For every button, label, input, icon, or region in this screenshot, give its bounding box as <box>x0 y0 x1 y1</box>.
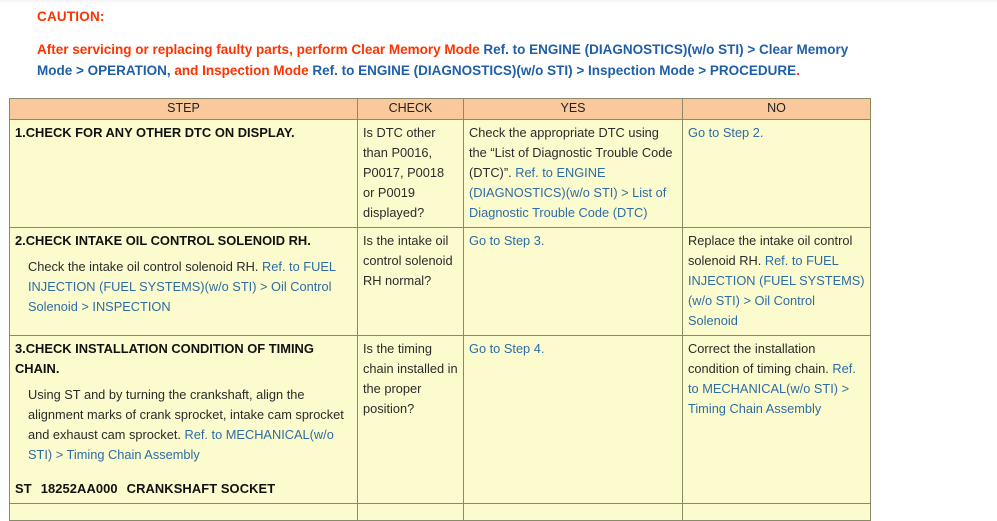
reference-link[interactable]: Go to Step 2. <box>688 125 763 140</box>
text-run: Correct the installation condition of ti… <box>688 341 832 376</box>
special-tool-line: ST18252AA000CRANKSHAFT SOCKET <box>15 479 353 499</box>
cell-check: Is the intake oil control solenoid RH no… <box>358 228 464 336</box>
cell-no: Go to Step 2. <box>683 120 871 228</box>
column-header-step: STEP <box>10 99 358 120</box>
diagnostic-procedure-table: STEP CHECK YES NO 1.CHECK FOR ANY OTHER … <box>9 98 871 521</box>
table-row-partial <box>10 504 871 521</box>
step-title: 2.CHECK INTAKE OIL CONTROL SOLENOID RH. <box>15 231 353 251</box>
table-row: 1.CHECK FOR ANY OTHER DTC ON DISPLAY.Is … <box>10 120 871 228</box>
special-tool-label: ST <box>15 481 32 496</box>
step-description: Using ST and by turning the crankshaft, … <box>15 385 353 465</box>
column-header-no: NO <box>683 99 871 120</box>
cell-yes: Check the appropriate DTC using the “Lis… <box>464 120 683 228</box>
cell-partial <box>464 504 683 521</box>
reference-link[interactable]: Go to Step 3. <box>469 233 544 248</box>
table-row: 2.CHECK INTAKE OIL CONTROL SOLENOID RH.C… <box>10 228 871 336</box>
reference-link[interactable]: Ref. to ENGINE (DIAGNOSTICS)(w/o STI) > … <box>312 63 796 78</box>
diagnostic-table-wrapper: STEP CHECK YES NO 1.CHECK FOR ANY OTHER … <box>0 98 997 521</box>
caution-body: After servicing or replacing faulty part… <box>37 40 862 81</box>
table-body: 1.CHECK FOR ANY OTHER DTC ON DISPLAY.Is … <box>10 120 871 521</box>
cell-yes: Go to Step 3. <box>464 228 683 336</box>
cell-partial <box>683 504 871 521</box>
column-header-check: CHECK <box>358 99 464 120</box>
cell-partial <box>358 504 464 521</box>
reference-link[interactable]: Go to Step 4. <box>469 341 544 356</box>
caution-title: CAUTION: <box>37 8 967 26</box>
cell-step: 1.CHECK FOR ANY OTHER DTC ON DISPLAY. <box>10 120 358 228</box>
text-run: Is DTC other than P0016, P0017, P0018 or… <box>363 125 444 220</box>
cell-check: Is DTC other than P0016, P0017, P0018 or… <box>358 120 464 228</box>
step-title: 3.CHECK INSTALLATION CONDITION OF TIMING… <box>15 339 353 379</box>
cell-step: 2.CHECK INTAKE OIL CONTROL SOLENOID RH.C… <box>10 228 358 336</box>
special-tool-part-number: 18252AA000 <box>41 481 118 496</box>
cell-no: Replace the intake oil control solenoid … <box>683 228 871 336</box>
cell-yes: Go to Step 4. <box>464 336 683 504</box>
special-tool-part-name: CRANKSHAFT SOCKET <box>127 481 276 496</box>
cell-check: Is the timing chain installed in the pro… <box>358 336 464 504</box>
cell-step: 3.CHECK INSTALLATION CONDITION OF TIMING… <box>10 336 358 504</box>
step-title: 1.CHECK FOR ANY OTHER DTC ON DISPLAY. <box>15 123 353 143</box>
text-run: After servicing or replacing faulty part… <box>37 42 483 57</box>
document-page: CAUTION: After servicing or replacing fa… <box>0 0 997 521</box>
cell-no: Correct the installation condition of ti… <box>683 336 871 504</box>
step-description: Check the intake oil control solenoid RH… <box>15 257 353 317</box>
table-header-row: STEP CHECK YES NO <box>10 99 871 120</box>
text-run: and Inspection Mode <box>171 63 313 78</box>
caution-block: CAUTION: After servicing or replacing fa… <box>0 0 997 81</box>
table-row: 3.CHECK INSTALLATION CONDITION OF TIMING… <box>10 336 871 504</box>
cell-partial <box>10 504 358 521</box>
text-run: . <box>796 63 800 78</box>
text-run: Is the timing chain installed in the pro… <box>363 341 458 416</box>
text-run: Is the intake oil control solenoid RH no… <box>363 233 453 288</box>
text-run: Check the intake oil control solenoid RH… <box>28 259 262 274</box>
column-header-yes: YES <box>464 99 683 120</box>
